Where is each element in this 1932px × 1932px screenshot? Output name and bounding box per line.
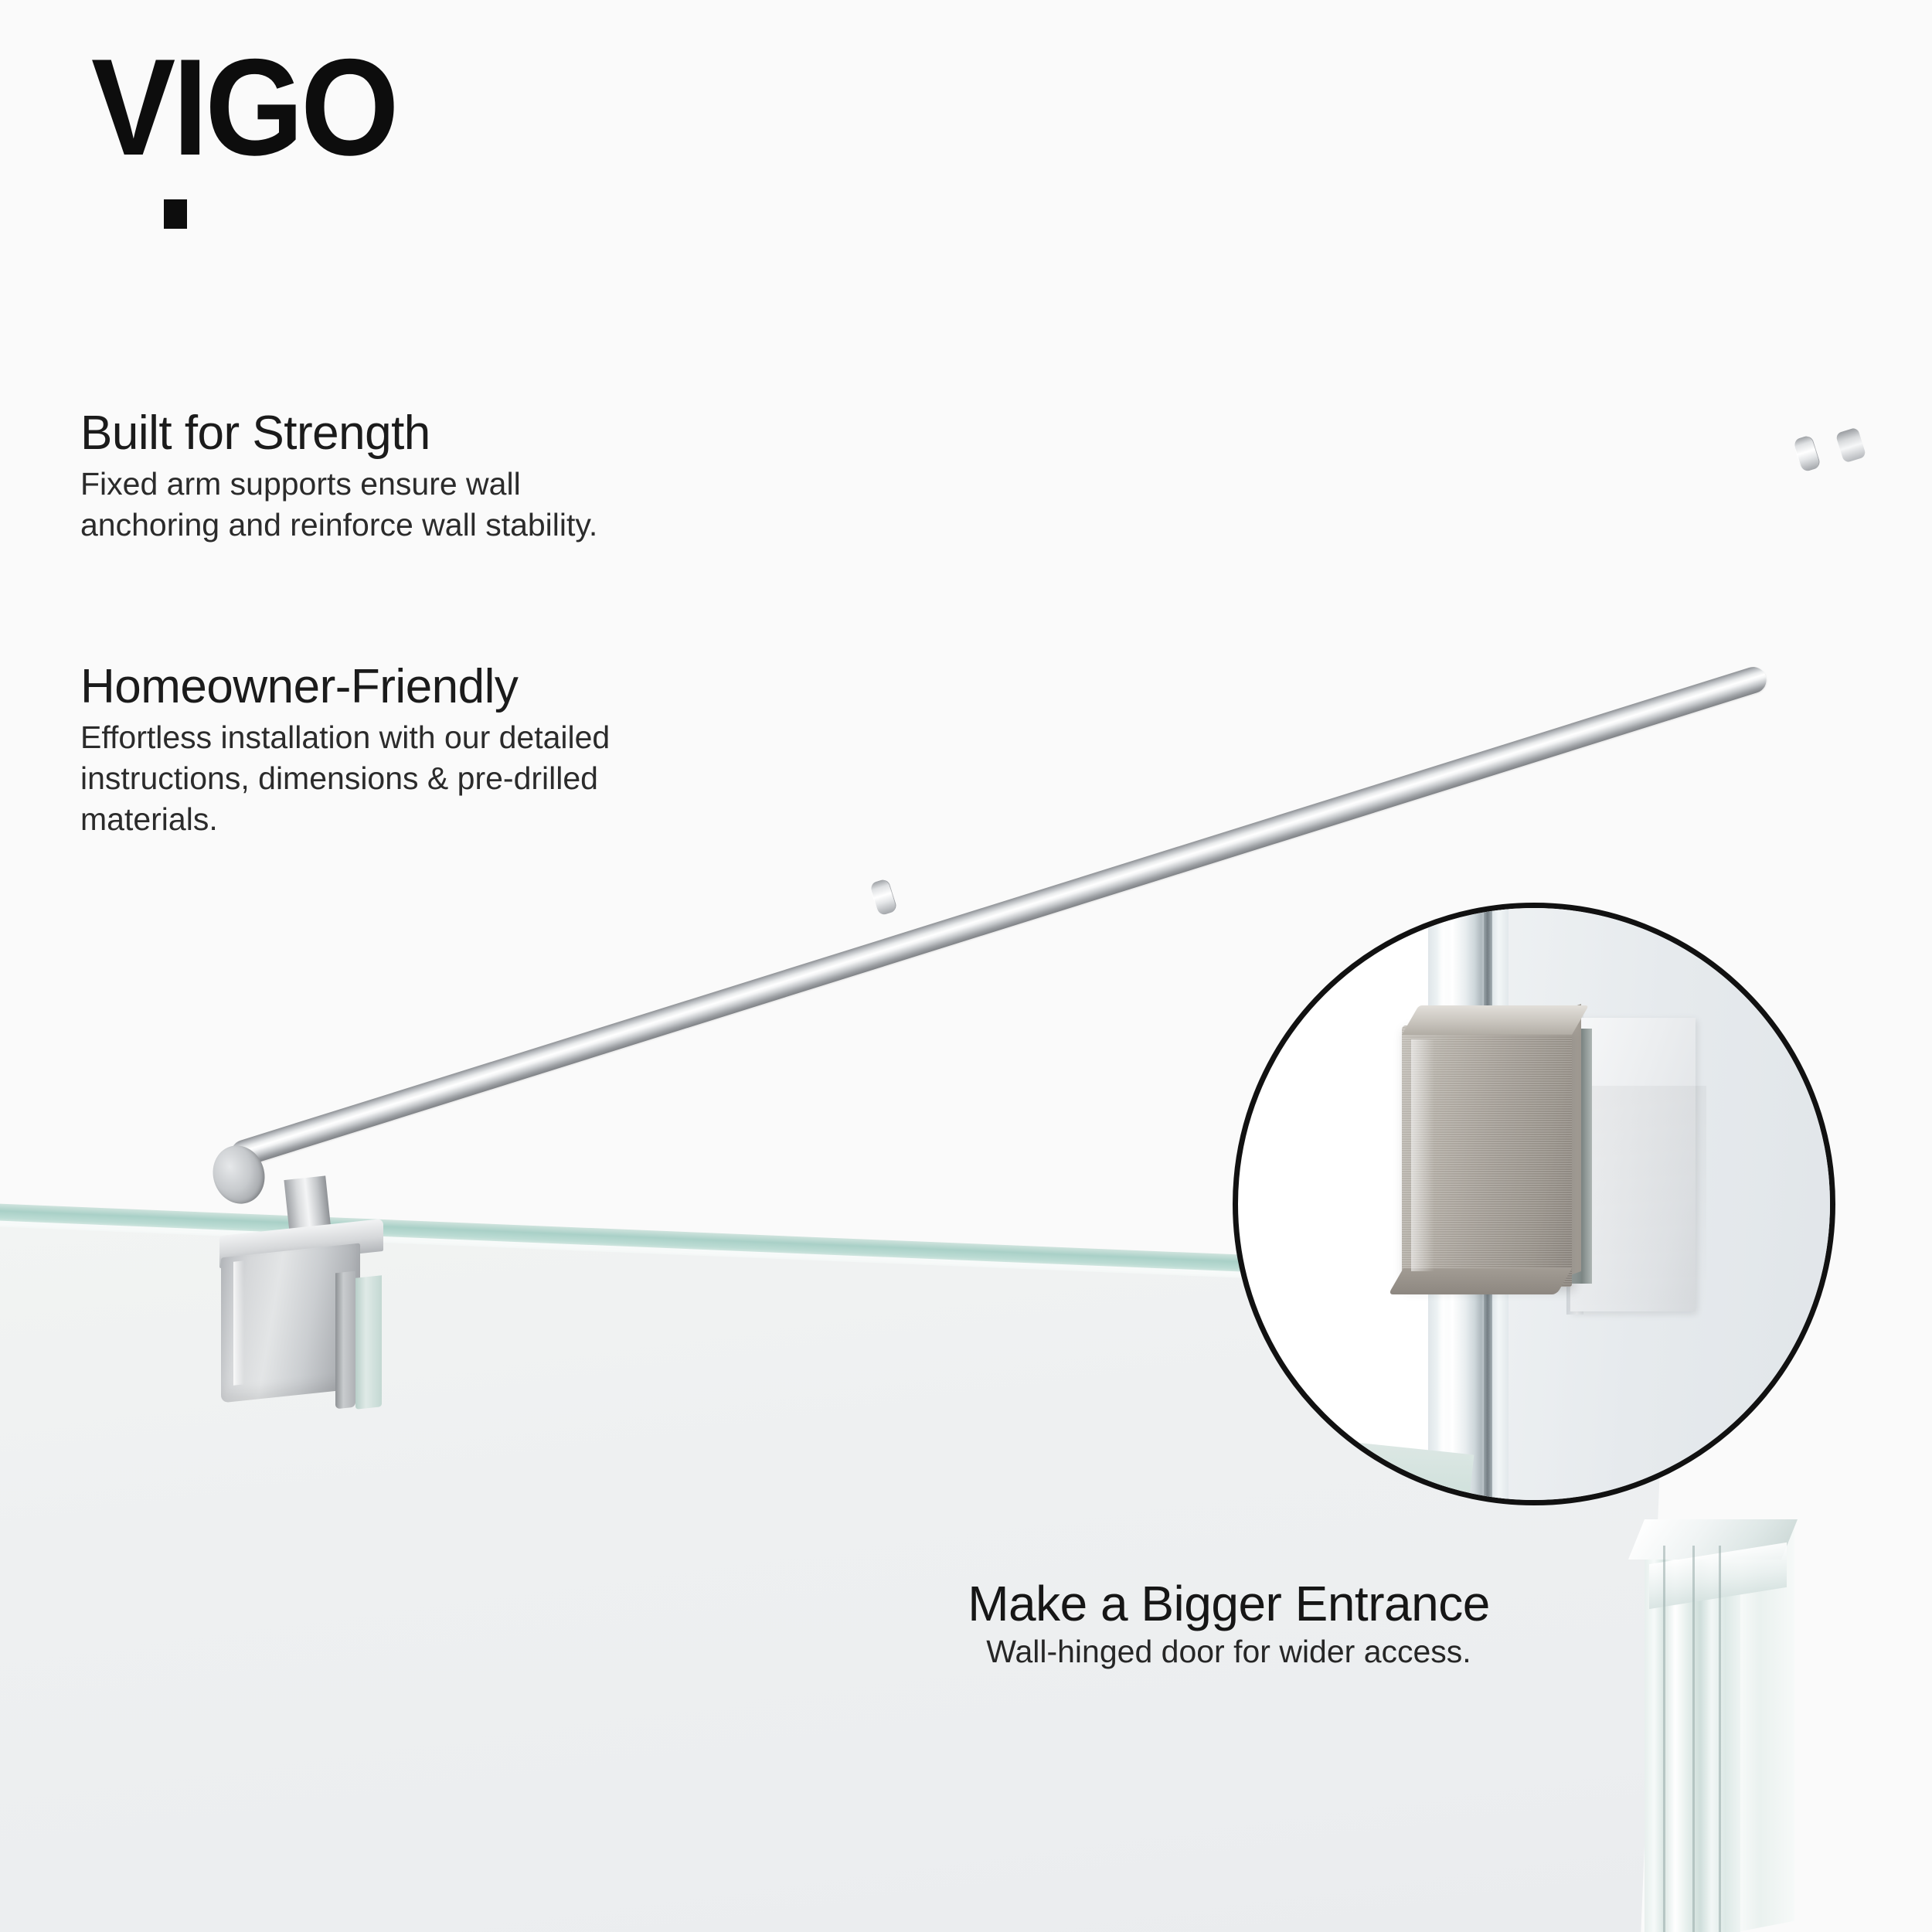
vigo-logo-text: VIGO — [91, 48, 396, 166]
caption-heading: Make a Bigger Entrance — [842, 1578, 1615, 1630]
clamp-rear-lip — [335, 1271, 355, 1410]
glass-clamp-bracket — [219, 1206, 397, 1399]
clamp-glass-slot — [355, 1275, 382, 1410]
feature-body: Effortless installation with our detaile… — [80, 717, 714, 841]
clamp-highlight — [233, 1260, 244, 1385]
feature-built-for-strength: Built for Strength Fixed arm supports en… — [80, 408, 668, 546]
callout-hinge-bottom-face — [1388, 1268, 1572, 1294]
marketing-image-canvas: VIGO Built for Strength Fixed arm suppor… — [0, 0, 1932, 1932]
glass-door-edge-column — [1645, 1519, 1798, 1932]
support-bar-wall-cap — [1835, 427, 1867, 463]
callout-hinge-highlight — [1411, 1039, 1434, 1271]
callout-hinge-top-face — [1402, 1005, 1589, 1035]
support-bar-wall-collar — [1792, 434, 1821, 473]
feature-homeowner-friendly: Homeowner-Friendly Effortless installati… — [80, 662, 714, 841]
caption-body: Wall-hinged door for wider access. — [842, 1633, 1615, 1671]
hinge-detail-callout — [1233, 903, 1835, 1505]
feature-heading: Homeowner-Friendly — [80, 662, 714, 713]
bottom-caption: Make a Bigger Entrance Wall-hinged door … — [842, 1578, 1615, 1671]
column-seam-line — [1719, 1546, 1721, 1932]
column-seam-line — [1692, 1546, 1695, 1932]
column-seam-line — [1663, 1546, 1665, 1932]
vigo-logo-dot-icon — [164, 199, 187, 229]
feature-heading: Built for Strength — [80, 408, 668, 459]
vigo-logo: VIGO — [91, 48, 423, 166]
support-bar-mid-collar — [869, 878, 898, 917]
feature-body: Fixed arm supports ensure wall anchoring… — [80, 464, 668, 546]
callout-inner — [1238, 908, 1830, 1500]
